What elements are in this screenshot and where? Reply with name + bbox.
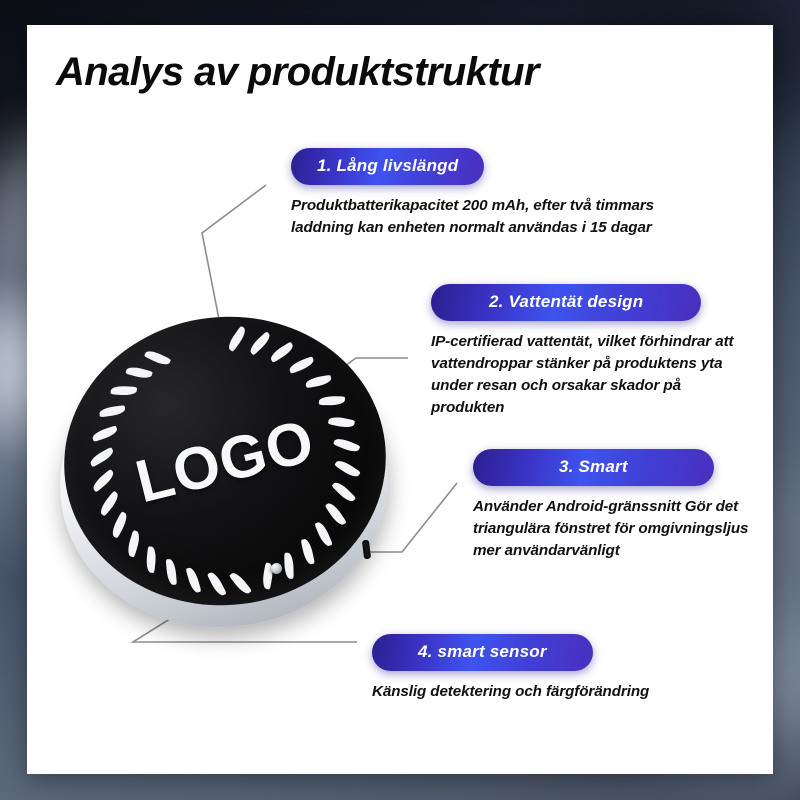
wreath-leaf bbox=[99, 405, 126, 417]
wreath-leaf bbox=[144, 348, 171, 367]
callout-2-line-1: IP-certifierad vattentät, vilket förhind… bbox=[431, 331, 734, 353]
wreath-leaf bbox=[284, 553, 293, 579]
wreath-leaf bbox=[90, 469, 116, 493]
wreath-leaf bbox=[319, 396, 345, 405]
sensor-dot-icon bbox=[271, 563, 282, 574]
callout-2-badge[interactable]: 2. Vattentät design bbox=[431, 284, 701, 321]
wreath-leaf bbox=[328, 415, 355, 429]
callout-2-line-3: under resan och orsakar skador på bbox=[431, 375, 734, 397]
wreath-leaf bbox=[91, 425, 119, 442]
callout-4-line-1: Känslig detektering och färgförändring bbox=[372, 681, 649, 703]
product-logo-text: LOGO bbox=[129, 406, 321, 517]
wreath-leaf bbox=[325, 501, 347, 528]
wreath-leaf bbox=[268, 342, 295, 363]
wreath-leaf bbox=[229, 570, 252, 596]
wreath-leaf bbox=[207, 570, 227, 597]
product-image: LOGO bbox=[52, 297, 397, 627]
callout-2-line-4: produkten bbox=[431, 397, 734, 419]
wreath-leaf bbox=[314, 520, 332, 547]
infographic-card: Analys av produktstruktur LOGO 1. Lång l… bbox=[27, 25, 773, 774]
callout-3-line-1: Använder Android-gränssnitt Gör det bbox=[473, 496, 748, 518]
wreath-leaf bbox=[98, 491, 121, 517]
callout-3: 3. Smart Använder Android-gränssnitt Gör… bbox=[473, 449, 748, 562]
wreath-leaf bbox=[331, 480, 356, 505]
wreath-leaf bbox=[334, 458, 361, 480]
wreath-leaf bbox=[186, 566, 202, 593]
callout-3-line-3: mer användarvänligt bbox=[473, 540, 748, 562]
wreath-leaf bbox=[333, 436, 360, 454]
callout-4: 4. smart sensor Känslig detektering och … bbox=[372, 634, 649, 703]
callout-2-line-2: vattendroppar stänker på produktens yta bbox=[431, 353, 734, 375]
callout-1-badge[interactable]: 1. Lång livslängd bbox=[291, 148, 484, 185]
callout-4-badge[interactable]: 4. smart sensor bbox=[372, 634, 593, 671]
callout-1-line-2: laddning kan enheten normalt användas i … bbox=[291, 217, 654, 239]
wreath-leaf bbox=[288, 356, 315, 374]
wreath-leaf bbox=[145, 546, 157, 573]
wreath-leaf bbox=[111, 385, 138, 396]
callout-3-description: Använder Android-gränssnitt Gör det tria… bbox=[473, 496, 748, 562]
callout-2-description: IP-certifierad vattentät, vilket förhind… bbox=[431, 331, 734, 419]
callout-2: 2. Vattentät design IP-certifierad vatte… bbox=[431, 284, 734, 419]
callout-3-badge[interactable]: 3. Smart bbox=[473, 449, 714, 486]
callout-4-description: Känslig detektering och färgförändring bbox=[372, 681, 649, 703]
wreath-leaf bbox=[125, 365, 152, 380]
wreath-leaf bbox=[305, 375, 332, 388]
callout-1-line-1: Produktbatterikapacitet 200 mAh, efter t… bbox=[291, 195, 654, 217]
wreath-leaf bbox=[126, 530, 142, 557]
callout-1-description: Produktbatterikapacitet 200 mAh, efter t… bbox=[291, 195, 654, 239]
wreath-leaf bbox=[247, 331, 272, 355]
callout-1: 1. Lång livslängd Produktbatterikapacite… bbox=[291, 148, 654, 239]
wreath-leaf bbox=[109, 511, 129, 538]
wreath-leaf bbox=[301, 538, 315, 565]
wreath-leaf bbox=[166, 559, 177, 586]
callout-3-line-2: triangulära fönstret för omgivningsljus bbox=[473, 518, 748, 540]
wreath-leaf bbox=[226, 326, 249, 352]
page-title: Analys av produktstruktur bbox=[56, 50, 539, 95]
wreath-leaf bbox=[88, 447, 115, 467]
